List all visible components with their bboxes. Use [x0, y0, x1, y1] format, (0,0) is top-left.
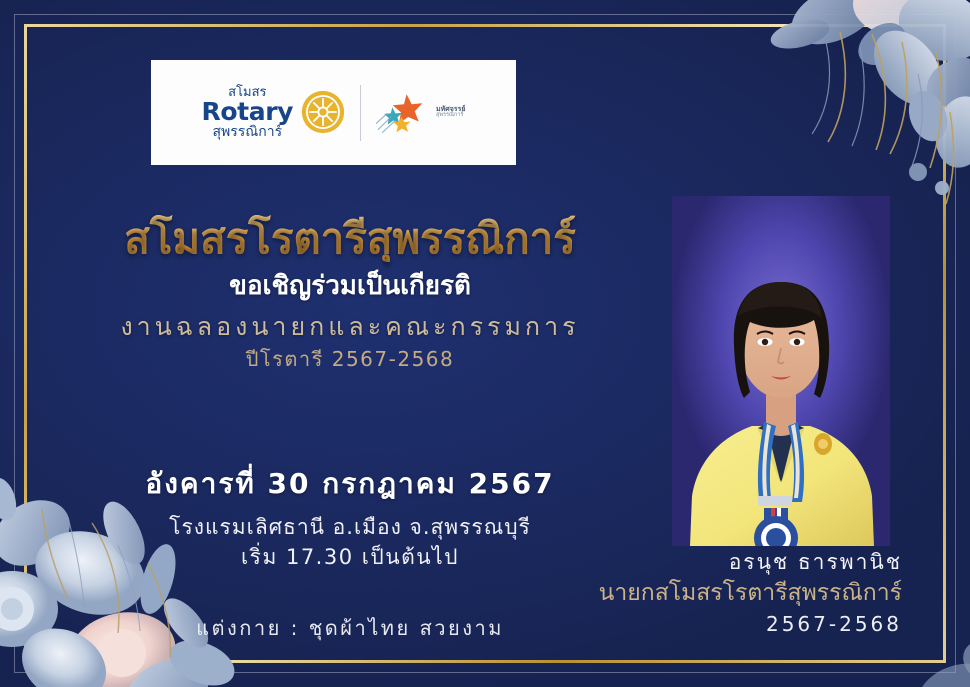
rotary-year: ปีโรตารี 2567-2568 — [40, 347, 660, 372]
president-term: 2567-2568 — [599, 610, 902, 639]
partner-logo-line2: สุพรรณิการ์ — [436, 113, 465, 119]
invitation-card: สโมสร Rotary สุพรรณิการ์ — [0, 0, 970, 687]
partner-logo-text: มหัศจรรย์ สุพรรณิการ์ — [436, 106, 465, 119]
dress-code: แต่งกาย : ชุดผ้าไทย สวยงาม — [40, 612, 660, 644]
event-date: อังคารที่ 30 กรกฎาคม 2567 — [40, 462, 660, 506]
rotary-club-logo: สโมสร Rotary สุพรรณิการ์ — [202, 86, 346, 139]
event-venue: โรงแรมเลิศธานี อ.เมือง จ.สุพรรณบุรี — [40, 513, 660, 542]
rotary-logo-bottom-text: สุพรรณิการ์ — [212, 125, 282, 139]
invite-line: ขอเชิญร่วมเป็นเกียรติ — [40, 271, 660, 302]
event-time: เริ่ม 17.30 เป็นต้นไป — [40, 543, 660, 572]
president-name: อรนุช ธารพานิช — [599, 548, 902, 577]
president-portrait-photo — [672, 196, 890, 546]
partner-logo: มหัศจรรย์ สุพรรณิการ์ — [375, 90, 465, 136]
logo-divider — [360, 85, 361, 141]
logo-banner: สโมสร Rotary สุพรรณิการ์ — [151, 60, 516, 165]
president-role: นายกสโมสรโรตารีสุพรรณิการ์ — [599, 577, 902, 609]
invitation-text-block: สโมสรโรตารีสุพรรณิการ์ ขอเชิญร่วมเป็นเกี… — [40, 215, 660, 372]
shooting-star-icon — [375, 90, 431, 136]
rotary-logo-text: สโมสร Rotary สุพรรณิการ์ — [202, 86, 293, 139]
rotary-gear-wheel-icon — [300, 89, 346, 135]
club-title: สโมสรโรตารีสุพรรณิการ์ — [40, 215, 660, 262]
signature-block: อรนุช ธารพานิช นายกสโมสรโรตารีสุพรรณิการ… — [599, 548, 902, 639]
rotary-logo-name: Rotary — [202, 99, 293, 125]
event-name: งานฉลองนายกและคณะกรรมการ — [40, 311, 660, 342]
event-details-block: อังคารที่ 30 กรกฎาคม 2567 โรงแรมเลิศธานี… — [40, 462, 660, 573]
